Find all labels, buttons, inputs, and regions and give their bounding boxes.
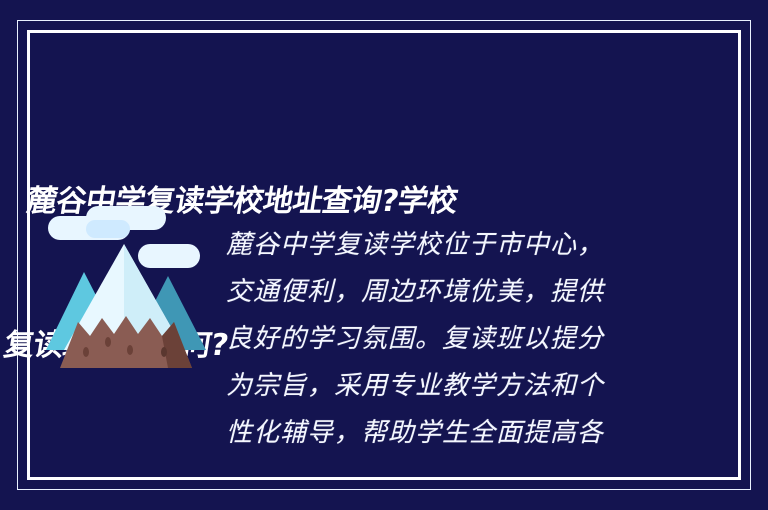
mountain-icon [46,200,206,370]
pebble-dot [105,337,111,347]
article-card: 麓谷中学复读学校地址查询?学校 复读班提分如何? [0,0,768,510]
pebble-dot [83,347,89,357]
body-line-3: 良好的学习氛围。复读班以提分 [226,316,722,363]
mountain-illustration [46,200,206,370]
pebble-dot [161,347,167,357]
body-line-2: 交通便利，周边环境优美，提供 [226,269,722,316]
body-paragraph: 麓谷中学复读学校位于市中心， 交通便利，周边环境优美，提供 良好的学习氛围。复读… [226,222,722,457]
body-line-5: 性化辅导，帮助学生全面提高各 [226,410,722,457]
body-line-1: 麓谷中学复读学校位于市中心， [226,222,722,269]
body-line-4: 为宗旨，采用专业教学方法和个 [226,363,722,410]
content-row: 麓谷中学复读学校位于市中心， 交通便利，周边环境优美，提供 良好的学习氛围。复读… [46,196,722,464]
pebble-dot [127,345,133,355]
